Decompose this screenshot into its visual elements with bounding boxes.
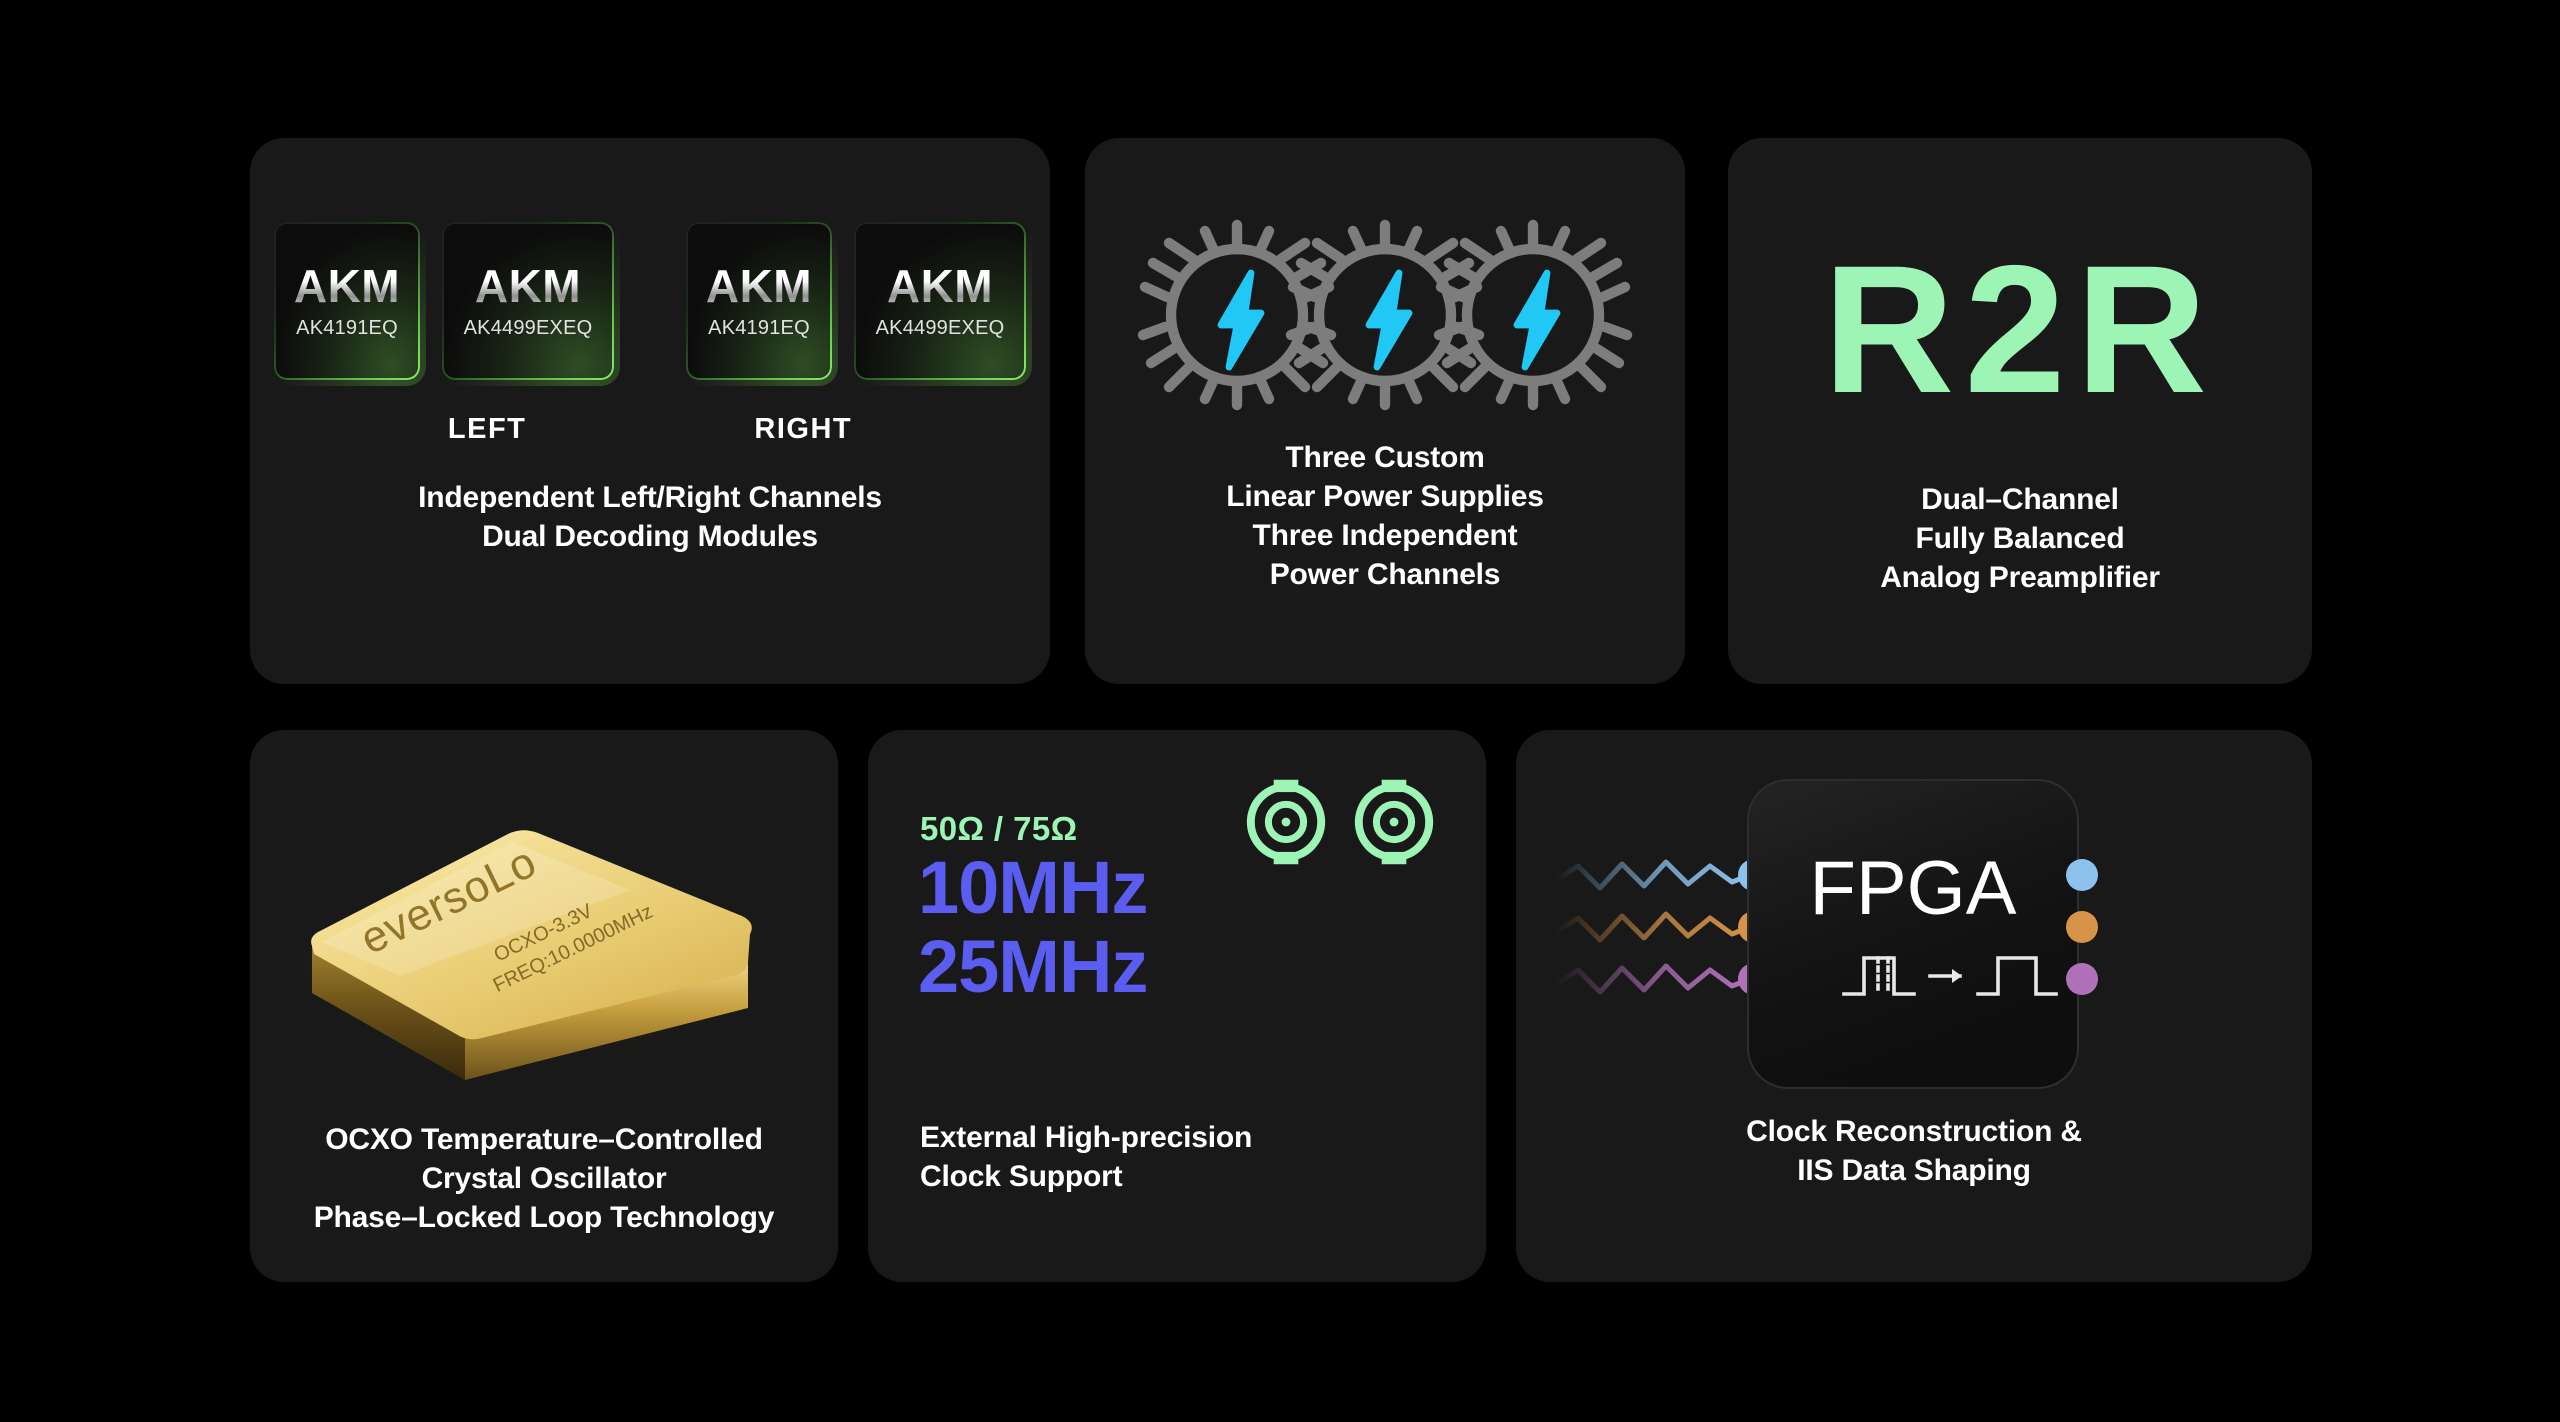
supported-frequencies: 10MHz 25MHz [918, 848, 1147, 1006]
power-caption-line-2: Linear Power Supplies [1085, 477, 1685, 516]
bnc-connector-icon [1350, 778, 1438, 866]
chip-model-label: AK4191EQ [296, 317, 398, 340]
power-caption-line-1: Three Custom [1085, 438, 1685, 477]
fpga-signal-diagram: FPGA [1516, 762, 2312, 1102]
frequency-line-2: 25MHz [918, 927, 1147, 1006]
ocxo-caption-line-1: OCXO Temperature–Controlled [250, 1120, 838, 1159]
chip-model-label: AK4191EQ [708, 317, 810, 340]
fpga-chip-body [1748, 780, 2078, 1088]
akm-chip: AKM AK4191EQ [686, 222, 832, 380]
r2r-caption-line-1: Dual–Channel [1728, 480, 2312, 519]
lightning-bolt-icon [1221, 273, 1261, 367]
channel-label-row: LEFT RIGHT [250, 413, 1050, 446]
dac-chip-pair-left: AKM AK4191EQ AKM AK4499EXEQ [274, 222, 614, 380]
chip-brand-label: AKM [887, 263, 993, 309]
channel-label-left: LEFT [448, 413, 527, 446]
card-external-clock: 50Ω / 75Ω [868, 730, 1486, 1282]
chip-brand-label: AKM [475, 263, 581, 309]
fpga-caption: Clock Reconstruction & IIS Data Shaping [1516, 1112, 2312, 1190]
card-fpga-clock: FPGA [1516, 730, 2312, 1282]
lightning-bolt-icon [1517, 273, 1557, 367]
dac-caption-line-2: Dual Decoding Modules [250, 517, 1050, 556]
ocxo-caption-line-3: Phase–Locked Loop Technology [250, 1198, 838, 1237]
dac-caption: Independent Left/Right Channels Dual Dec… [250, 478, 1050, 556]
card-ocxo-oscillator: eversoLo OCXO-3.3V FREQ:10.0000MHz OCXO … [250, 730, 838, 1282]
r2r-caption-line-3: Analog Preamplifier [1728, 558, 2312, 597]
gold-ocxo-chip-icon: eversoLo OCXO-3.3V FREQ:10.0000MHz [250, 750, 838, 1110]
ocxo-caption: OCXO Temperature–Controlled Crystal Osci… [250, 1120, 838, 1237]
r2r-caption-line-2: Fully Balanced [1728, 519, 2312, 558]
dac-caption-line-1: Independent Left/Right Channels [250, 478, 1050, 517]
card-dual-dac: AKM AK4191EQ AKM AK4499EXEQ AKM AK4191EQ… [250, 138, 1050, 684]
transformer-icon-row [1085, 210, 1685, 420]
akm-chip: AKM AK4499EXEQ [854, 222, 1026, 380]
lightning-bolt-icon [1369, 273, 1409, 367]
card-r2r-preamp: R2R Dual–Channel Fully Balanced Analog P… [1728, 138, 2312, 684]
impedance-label: 50Ω / 75Ω [920, 810, 1077, 848]
bnc-connector-row [1242, 778, 1438, 866]
akm-chip: AKM AK4499EXEQ [442, 222, 614, 380]
dac-chip-pair-right: AKM AK4191EQ AKM AK4499EXEQ [686, 222, 1026, 380]
clock-caption: External High-precision Clock Support [920, 1118, 1446, 1196]
power-caption-line-4: Power Channels [1085, 555, 1685, 594]
akm-chip: AKM AK4191EQ [274, 222, 420, 380]
r2r-headline: R2R [1728, 238, 2312, 420]
fpga-chip-label: FPGA [1810, 846, 2017, 931]
r2r-caption: Dual–Channel Fully Balanced Analog Pream… [1728, 480, 2312, 597]
fpga-caption-line-2: IIS Data Shaping [1516, 1151, 2312, 1190]
feature-grid: AKM AK4191EQ AKM AK4499EXEQ AKM AK4191EQ… [0, 0, 2560, 1422]
fpga-caption-line-1: Clock Reconstruction & [1516, 1112, 2312, 1151]
power-caption-line-3: Three Independent [1085, 516, 1685, 555]
input-waveform-orange [1556, 914, 1750, 940]
toroidal-transformer-icon [1433, 215, 1633, 415]
chip-model-label: AK4499EXEQ [876, 317, 1005, 340]
chip-brand-label: AKM [706, 263, 812, 309]
channel-label-right: RIGHT [754, 413, 852, 446]
clock-caption-line-1: External High-precision [920, 1118, 1446, 1157]
frequency-line-1: 10MHz [918, 848, 1147, 927]
chip-brand-label: AKM [294, 263, 400, 309]
fpga-illustration: FPGA [1516, 762, 2312, 1102]
input-waveform-blue [1556, 862, 1750, 888]
dac-chip-row: AKM AK4191EQ AKM AK4499EXEQ AKM AK4191EQ… [250, 222, 1050, 380]
clock-caption-line-2: Clock Support [920, 1157, 1446, 1196]
input-waveform-purple [1556, 966, 1750, 992]
bnc-connector-icon [1242, 778, 1330, 866]
ocxo-caption-line-2: Crystal Oscillator [250, 1159, 838, 1198]
chip-model-label: AK4499EXEQ [464, 317, 593, 340]
ocxo-chip-illustration: eversoLo OCXO-3.3V FREQ:10.0000MHz [250, 750, 838, 1110]
card-linear-power: Three Custom Linear Power Supplies Three… [1085, 138, 1685, 684]
power-caption: Three Custom Linear Power Supplies Three… [1085, 438, 1685, 594]
